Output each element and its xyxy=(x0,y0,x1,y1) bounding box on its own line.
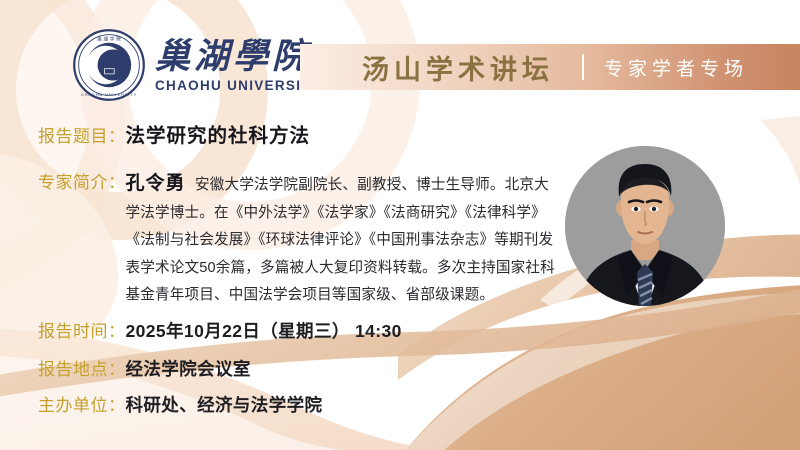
report-place-value: 经法学院会议室 xyxy=(126,356,251,381)
university-name-cn: 巢湖學院 xyxy=(155,37,321,76)
report-title-row: 报告题目： 法学研究的社科方法 xyxy=(38,119,310,148)
university-logo: 巢 湖 学 院 CHAOHU UNIVERSITY 巢湖學院 CHAOHU UN… xyxy=(72,28,321,102)
host-unit-row: 主办单位： 科研处、经济与法学学院 xyxy=(38,391,322,417)
report-place-label: 报告地点： xyxy=(38,355,126,380)
report-time-row: 报告时间： 2025年10月22日（星期三） 14:30 xyxy=(38,317,402,343)
decor-band-bottomleft xyxy=(0,329,470,450)
chaohu-university-seal-icon: 巢 湖 学 院 CHAOHU UNIVERSITY xyxy=(72,28,146,102)
report-title-value: 法学研究的社科方法 xyxy=(126,119,311,148)
report-place-row: 报告地点： 经法学院会议室 xyxy=(38,355,251,381)
speaker-bio-label: 专家简介： xyxy=(38,168,126,193)
speaker-portrait xyxy=(565,146,725,306)
forum-title: 汤山学术讲坛 xyxy=(362,48,554,87)
report-time-label: 报告时间： xyxy=(38,317,126,342)
speaker-bio-row: 专家简介： 孔令勇 安徽大学法学院副院长、副教授、博士生导师。北京大学法学博士。… xyxy=(38,168,558,310)
poster-header: 巢 湖 学 院 CHAOHU UNIVERSITY 巢湖學院 CHAOHU UN… xyxy=(0,0,800,110)
svg-text:CHAOHU UNIVERSITY: CHAOHU UNIVERSITY xyxy=(81,92,137,97)
speaker-bio-text: 安徽大学法学院副院长、副教授、博士生导师。北京大学法学博士。在《中外法学》《法学… xyxy=(126,177,555,303)
decor-arc-right xyxy=(760,110,800,310)
host-unit-value: 科研处、经济与法学学院 xyxy=(126,392,323,417)
poster-canvas: 巢 湖 学 院 CHAOHU UNIVERSITY 巢湖學院 CHAOHU UN… xyxy=(0,0,800,450)
forum-subtitle: 专家学者专场 xyxy=(604,54,748,81)
speaker-name: 孔令勇 xyxy=(126,173,186,194)
university-name-en: CHAOHU UNIVERSITY xyxy=(155,78,321,93)
report-title-label: 报告题目： xyxy=(38,122,126,147)
decor-ribbon-lower-gloss xyxy=(404,292,800,450)
vertical-divider-icon xyxy=(582,54,584,80)
report-time-value: 2025年10月22日（星期三） 14:30 xyxy=(126,318,402,343)
forum-ribbon: 汤山学术讲坛 专家学者专场 xyxy=(300,44,800,90)
speaker-portrait-photo xyxy=(565,146,725,306)
host-unit-label: 主办单位： xyxy=(38,391,126,416)
